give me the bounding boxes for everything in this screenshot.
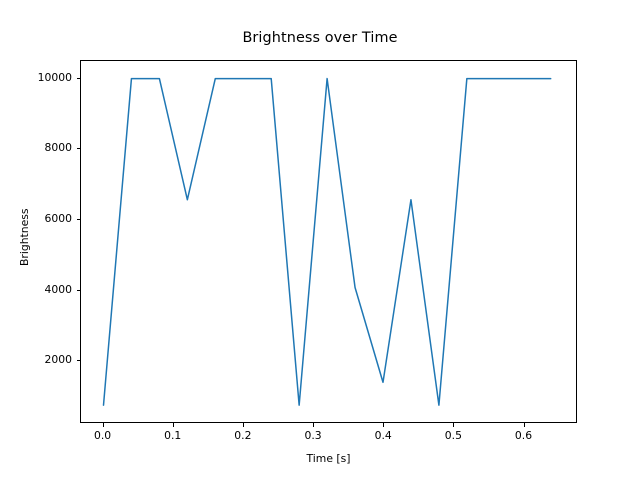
x-tick-label: 0.0	[78, 429, 128, 442]
y-tick-label: 8000	[12, 141, 72, 154]
brightness-line	[103, 79, 550, 406]
x-tick-label: 0.5	[428, 429, 478, 442]
x-tick-label: 0.4	[358, 429, 408, 442]
x-tick-label: 0.2	[218, 429, 268, 442]
x-tick-mark	[243, 423, 244, 427]
x-tick-mark	[313, 423, 314, 427]
y-tick-label: 2000	[12, 353, 72, 366]
x-tick-mark	[453, 423, 454, 427]
x-tick-mark	[524, 423, 525, 427]
x-tick-mark	[173, 423, 174, 427]
y-tick-mark	[77, 290, 81, 291]
y-tick-mark	[77, 148, 81, 149]
x-tick-label: 0.3	[288, 429, 338, 442]
x-axis-label: Time [s]	[80, 452, 577, 465]
matplotlib-figure: Brightness over Time 0.00.10.20.30.40.50…	[0, 0, 640, 480]
x-tick-mark	[103, 423, 104, 427]
line-series-svg	[81, 61, 576, 422]
y-axis-label: Brightness	[18, 208, 31, 266]
y-tick-mark	[77, 219, 81, 220]
x-tick-mark	[383, 423, 384, 427]
x-tick-label: 0.1	[148, 429, 198, 442]
y-tick-label: 10000	[12, 71, 72, 84]
y-tick-label: 4000	[12, 283, 72, 296]
plot-axes	[80, 60, 577, 423]
page-title: Brightness over Time	[0, 30, 640, 46]
y-tick-mark	[77, 78, 81, 79]
y-tick-mark	[77, 360, 81, 361]
x-tick-label: 0.6	[499, 429, 549, 442]
